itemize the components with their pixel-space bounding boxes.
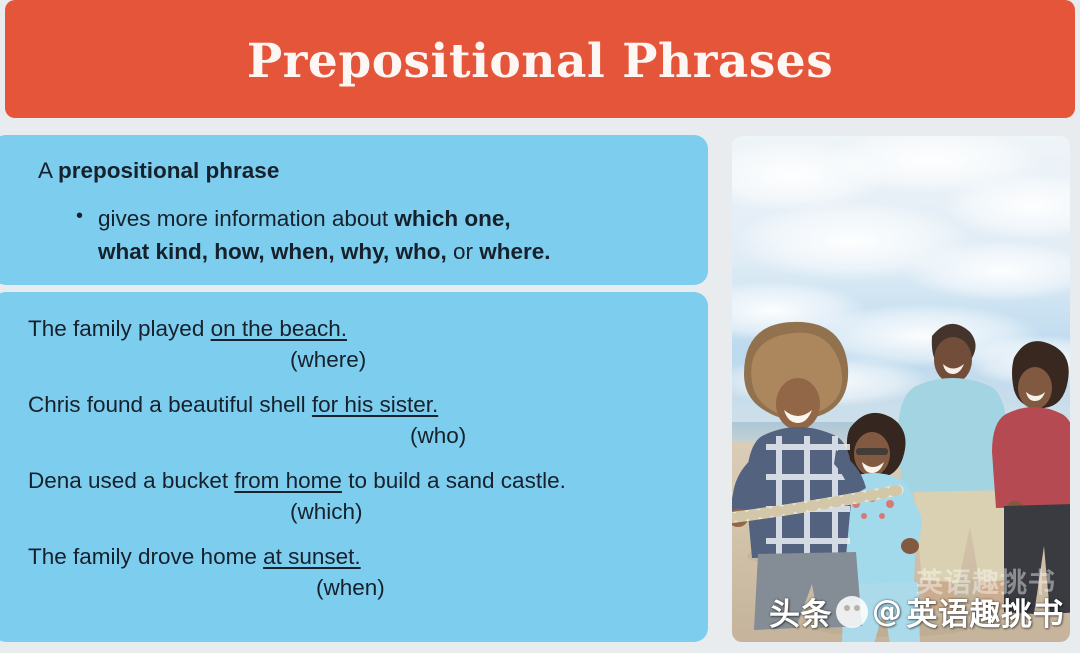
- example-sentence: Dena used a bucket from home to build a …: [28, 466, 696, 496]
- example-item: The family played on the beach. (where): [28, 314, 696, 374]
- example-before: Chris found a beautiful shell: [28, 392, 312, 417]
- example-sentence: Chris found a beautiful shell for his si…: [28, 390, 696, 420]
- example-sentence: The family played on the beach.: [28, 314, 696, 344]
- bullet-part-3: or: [447, 239, 480, 264]
- example-phrase: at sunset.: [263, 544, 361, 569]
- definition-bullet-text: gives more information about which one, …: [98, 203, 551, 268]
- photo-illustration: [732, 136, 1070, 642]
- definition-bullet-row: • gives more information about which one…: [38, 203, 694, 268]
- bullet-part-1: which one,: [394, 206, 510, 231]
- examples-panel: The family played on the beach. (where) …: [0, 292, 708, 642]
- example-label: (where): [28, 345, 696, 374]
- example-before: The family drove home: [28, 544, 263, 569]
- example-label: (when): [28, 573, 696, 602]
- definition-lead-bold: prepositional phrase: [58, 158, 279, 183]
- slide-canvas: Prepositional Phrases A prepositional ph…: [0, 0, 1080, 653]
- definition-lead: A prepositional phrase: [38, 157, 694, 185]
- beach-family-photo: 英语趣挑书 头条 @ 英语趣挑书: [732, 136, 1070, 642]
- bullet-part-4: where.: [479, 239, 550, 264]
- bullet-dot-icon: •: [76, 203, 98, 268]
- example-phrase: from home: [234, 468, 342, 493]
- example-item: The family drove home at sunset. (when): [28, 542, 696, 602]
- page-title: Prepositional Phrases: [247, 38, 833, 85]
- example-phrase: on the beach.: [211, 316, 347, 341]
- example-label: (who): [28, 421, 696, 450]
- example-before: Dena used a bucket: [28, 468, 234, 493]
- definition-lead-plain: A: [38, 158, 58, 183]
- example-phrase: for his sister.: [312, 392, 438, 417]
- bullet-part-0: gives more information about: [98, 206, 394, 231]
- example-sentence: The family drove home at sunset.: [28, 542, 696, 572]
- example-before: The family played: [28, 316, 211, 341]
- example-item: Chris found a beautiful shell for his si…: [28, 390, 696, 450]
- definition-panel: A prepositional phrase • gives more info…: [0, 135, 708, 285]
- example-label: (which): [28, 497, 696, 526]
- bullet-part-2: what kind, how, when, why, who,: [98, 239, 447, 264]
- example-after: to build a sand castle.: [342, 468, 566, 493]
- title-banner: Prepositional Phrases: [5, 0, 1075, 118]
- example-item: Dena used a bucket from home to build a …: [28, 466, 696, 526]
